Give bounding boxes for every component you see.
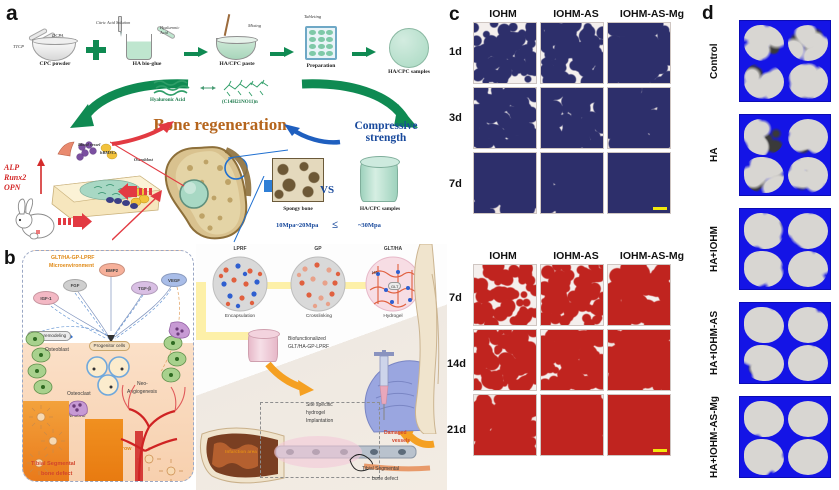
row-label-7d: 7d: [449, 178, 462, 190]
marker-up-arrow-icon: [36, 158, 46, 194]
scale-bar: [653, 207, 667, 211]
bowl-icon: [32, 39, 76, 61]
leg-bones-silhouette: [402, 244, 447, 434]
figure-root: a CPC powder TTCP DCPA HA bio-glue Citri…: [0, 0, 839, 490]
node-progenitor-cells: Progenitor cells: [89, 341, 130, 351]
compressive-strength-label: Compressive strength: [336, 120, 436, 144]
panel-a-letter: a: [6, 2, 18, 26]
alizarin-red-staining-grid: [473, 264, 671, 456]
hydrogel-process-diagram: LPRF Encapsulation GP: [196, 244, 447, 490]
compressive-line2: strength: [366, 132, 407, 144]
microct-row-label-ha-iohm-as-mg: HA+IOHM-AS-Mg: [693, 396, 737, 478]
comparison-operator: ≤: [332, 219, 338, 231]
microct-view: [744, 63, 784, 99]
label-hyaluronic-acid-caption: Hyaluronic Acid: [150, 98, 185, 103]
microct-view: [788, 251, 828, 287]
workflow-step-caption: HA/CPC paste: [206, 61, 268, 67]
micrograph-iohm-as-mg-7d: [607, 264, 671, 326]
microct-view: [788, 25, 828, 61]
microct-view: [788, 119, 828, 155]
double-arrow-icon: [200, 84, 216, 92]
workflow-step-caption: Preparation: [292, 63, 350, 69]
right-defect-label-2: bone defect: [372, 476, 398, 482]
micrograph-iohm-as-mg-1d: [607, 22, 671, 84]
compressive-line1: Compressive: [354, 120, 417, 132]
panel-d: d ControlHAHA+IOHMHA+IOHM-ASHA+IOHM-AS-M…: [693, 0, 839, 490]
microct-view: [788, 157, 828, 193]
microct-view: [744, 345, 784, 381]
micrograph-iohm-as-1d: [540, 22, 604, 84]
row-label-1d: 1d: [449, 46, 462, 58]
microct-view: [744, 157, 784, 193]
row-label-14d: 14d: [447, 358, 466, 370]
gf-label: FGF: [71, 283, 80, 288]
microct-view: [744, 401, 784, 437]
micrograph-iohm-3d: [473, 87, 537, 149]
microct-image: [739, 208, 831, 290]
label-osteoclast: Osteoclast: [67, 391, 91, 397]
panel-b-letter: b: [4, 248, 16, 270]
microct-view: [744, 251, 784, 287]
hacpc-strength: ~30Mpa: [358, 222, 381, 229]
panel-c-letter: c: [449, 4, 460, 26]
microct-view: [788, 439, 828, 475]
label-dcpa: DCPA: [52, 33, 63, 38]
row-label-21d: 21d: [447, 424, 466, 436]
column-header-iohm: IOHM: [467, 250, 539, 262]
microct-view: [744, 119, 784, 155]
mold-plate-icon: [305, 26, 337, 60]
column-header-iohm-as: IOHM-AS: [539, 8, 613, 20]
marker-alp: ALP: [4, 163, 19, 172]
workflow-step-preparation: Preparation: [292, 24, 350, 69]
scale-bar: [653, 449, 667, 453]
product-label-2: GLT/HA-GP-LPRF: [288, 344, 329, 350]
workflow-step-caption: CPC powder: [22, 61, 88, 67]
microct-row-label-ha: HA: [693, 114, 737, 196]
gf-label: BMP2: [106, 268, 118, 273]
panel-a: a CPC powder TTCP DCPA HA bio-glue Citri…: [0, 0, 447, 244]
blue-curved-arrow: [282, 122, 342, 146]
process-step-caption-encapsulation: Encapsulation: [204, 314, 276, 319]
panel-b: b GLT/HA-GP-LPRF Microenvironment: [0, 244, 447, 490]
micrograph-iohm-as-mg-21d: [607, 394, 671, 456]
marker-runx2: Runx2: [4, 173, 26, 182]
sample-disc-icon: [389, 28, 429, 68]
row-label-3d: 3d: [449, 112, 462, 124]
microct-row-label-control: Control: [693, 20, 737, 102]
rabbit-illustration: [12, 196, 60, 242]
red-block-arrow-right: [58, 212, 92, 230]
row-label-line: HA+IOHM: [710, 431, 721, 477]
gp-particle-circle: [290, 256, 346, 312]
micrograph-iohm-as-mg-14d: [607, 329, 671, 391]
micrograph-iohm-as-7d: [540, 152, 604, 214]
microct-image: [739, 114, 831, 196]
biofunctionalized-gel-cylinder: [248, 332, 278, 362]
microct-view: [744, 307, 784, 343]
micrograph-iohm-as-mg-7d: [607, 152, 671, 214]
defect-label-2: bone defect: [41, 471, 72, 477]
gf-label: IGF-1: [40, 296, 51, 301]
microct-row-ha-iohm: [739, 208, 831, 290]
spongy-bone-image: [272, 158, 324, 202]
row-label-line: -AS-Mg: [710, 396, 721, 431]
label-ha-inner: HA: [372, 270, 378, 275]
row-label-line: HA: [710, 148, 721, 162]
process-step-top-gp: GP: [288, 246, 348, 252]
alp-staining-grid: [473, 22, 671, 214]
microenvironment-diagram: GLT/HA-GP-LPRF Microenvironment: [22, 250, 194, 482]
row-label-line: +IOHM: [710, 226, 721, 258]
alp-column-headers: IOHM IOHM-AS IOHM-AS-Mg: [467, 8, 691, 20]
microct-view: [788, 63, 828, 99]
workflow-step-caption: HA/CPC samples: [378, 69, 440, 75]
row-label-line: Control: [710, 43, 721, 79]
column-header-iohm-as-mg: IOHM-AS-Mg: [613, 250, 691, 262]
micrograph-iohm-as-7d: [540, 264, 604, 326]
micrograph-iohm-as-14d: [540, 329, 604, 391]
micrograph-iohm-7d: [473, 152, 537, 214]
plus-icon: [86, 40, 106, 60]
mixing-bowl-icon: [216, 38, 256, 60]
microct-row-label-ha-iohm: HA+IOHM: [693, 208, 737, 290]
process-step-caption-crosslinking: Crosslinking: [284, 314, 354, 319]
growth-factor-igf1: IGF-1: [33, 291, 59, 305]
micrograph-iohm-1d: [473, 22, 537, 84]
workflow-step-ha-cpc-samples: HA/CPC samples: [378, 26, 440, 75]
microct-row-control: [739, 20, 831, 102]
microct-row-ha-iohm-as: [739, 302, 831, 384]
microct-view: [744, 439, 784, 475]
micrograph-iohm-14d: [473, 329, 537, 391]
microct-view: [788, 345, 828, 381]
arrow-right-icon: [366, 47, 376, 57]
column-header-iohm-as: IOHM-AS: [539, 250, 613, 262]
vasculature-illustration: [115, 371, 194, 482]
microct-view: [788, 213, 828, 249]
pointer-line-blue-bottom: [230, 176, 266, 244]
column-header-iohm-as-mg: IOHM-AS-Mg: [613, 8, 691, 20]
osteoblast-cells-left: [23, 327, 63, 407]
label-infarction-area: Infarction area: [224, 450, 258, 455]
microct-image: [739, 302, 831, 384]
gf-label: VEGF: [168, 278, 180, 283]
product-label-1: Biofunctionalized: [288, 336, 326, 342]
label-tableting: Tableting: [304, 14, 321, 19]
stirring-rod-icon: [224, 14, 231, 36]
label-chemical-formula: (C14H21NO11)n: [222, 100, 258, 105]
microct-view: [788, 401, 828, 437]
pointer-line-lower: [112, 190, 172, 242]
row-label-7d: 7d: [449, 292, 462, 304]
row-label-line: HA: [710, 258, 721, 272]
row-label-line: +IOHM-AS: [710, 311, 721, 360]
micrograph-iohm-as-3d: [540, 87, 604, 149]
label-ttcp: TTCP: [13, 44, 24, 49]
microct-view: [788, 307, 828, 343]
label-blood-vessel: Blood vessel: [78, 142, 100, 147]
microct-row-ha: [739, 114, 831, 196]
damaged-vessels-label-2: vessels: [392, 438, 410, 444]
hyaluronic-acid-squiggle-icon: [152, 78, 196, 96]
microct-image: [739, 20, 831, 102]
spongy-bone-caption: Spongy bone: [268, 206, 328, 212]
row-label-line: HA: [710, 360, 721, 374]
label-osteoblast: Osteoblast: [45, 347, 69, 353]
defect-label-1: Tibial Segmental: [31, 461, 75, 467]
lprf-particle-circle: [212, 256, 268, 312]
microct-view: [744, 25, 784, 61]
micrograph-iohm-as-mg-3d: [607, 87, 671, 149]
hacpc-samples-caption: HA/CPC samples: [348, 206, 412, 212]
panel-c: c IOHM IOHM-AS IOHM-AS-Mg 1d 3d 7d IOHM …: [447, 0, 693, 490]
workflow-step-ha-cpc-paste: HA/CPC paste: [206, 32, 268, 67]
label-hyaluronic-acid: Hyaluronic Acid: [160, 26, 186, 35]
microct-row-ha-iohm-as-mg: [739, 396, 831, 478]
beaker-icon: [126, 34, 152, 60]
micrograph-iohm-7d: [473, 264, 537, 326]
microct-row-label-ha-iohm-as: HA+IOHM-AS: [693, 302, 737, 384]
microct-view: [744, 213, 784, 249]
growth-factor-tgfb: TGF-β: [131, 281, 158, 295]
orange-arrow-down: [264, 362, 316, 398]
growth-factor-fgf: FGF: [63, 279, 87, 292]
hacpc-cylinder-sample: [360, 160, 398, 202]
column-header-iohm: IOHM: [467, 8, 539, 20]
growth-factor-bmp2: BMP2: [99, 263, 125, 277]
gf-label: TGF-β: [138, 286, 151, 291]
panel-d-letter: d: [702, 3, 714, 25]
osteogenic-markers: ALP Runx2 OPN: [4, 163, 26, 193]
label-mixing: Mixing: [248, 23, 261, 28]
polysaccharide-structure-icon: [222, 78, 272, 98]
marker-opn: OPN: [4, 183, 20, 192]
process-step-top-lprf: LPRF: [210, 246, 270, 252]
label-glt-inner: GLT: [388, 282, 401, 290]
micrograph-iohm-as-21d: [540, 394, 604, 456]
workflow-step-caption: HA bio-glue: [112, 61, 182, 67]
spongy-bone-strength: 10Mpa~20Mpa: [276, 222, 318, 229]
growth-factor-vegf: VEGF: [161, 273, 187, 287]
ars-column-headers: IOHM IOHM-AS IOHM-AS-Mg: [467, 250, 691, 262]
vs-label: VS: [320, 184, 334, 196]
label-citric-acid: Citric Acid Solution: [96, 21, 130, 26]
micrograph-iohm-21d: [473, 394, 537, 456]
right-defect-label-1: Tibial Segmental: [362, 466, 399, 472]
microct-image: [739, 396, 831, 478]
